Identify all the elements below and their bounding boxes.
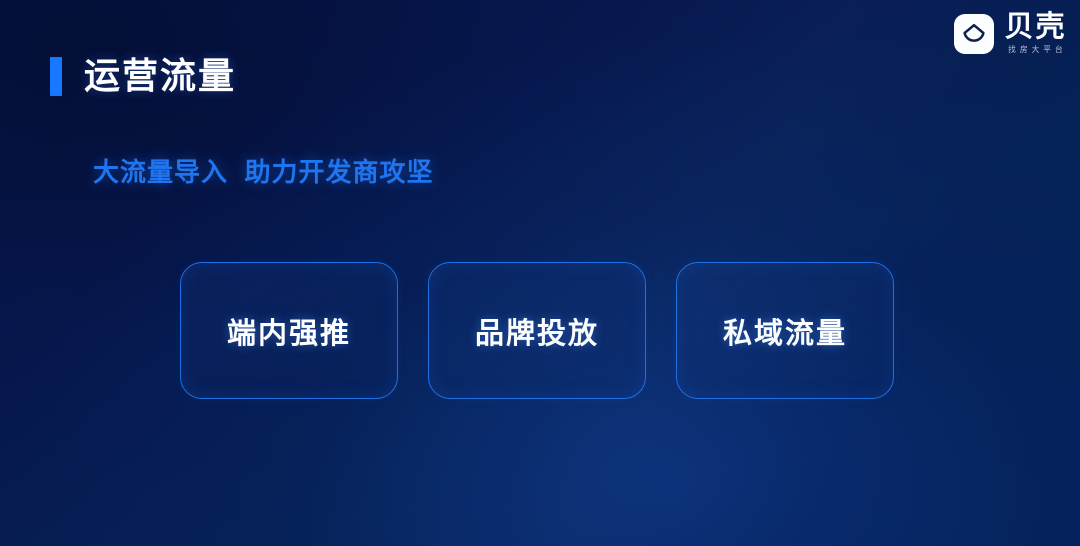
heading-accent-bar	[50, 57, 62, 96]
feature-card-1[interactable]: 端内强推	[180, 262, 398, 399]
feature-card-label: 端内强推	[227, 310, 351, 352]
beike-house-shell-icon	[954, 14, 994, 54]
feature-card-list: 端内强推 品牌投放 私域流量	[180, 262, 894, 399]
feature-card-2[interactable]: 品牌投放	[428, 262, 646, 399]
feature-card-3[interactable]: 私域流量	[676, 262, 894, 399]
page-title: 运营流量	[84, 56, 236, 96]
feature-card-label: 私域流量	[723, 310, 847, 352]
page-heading: 运营流量	[50, 56, 236, 96]
brand-tagline: 找房大平台	[1004, 44, 1066, 56]
brand-logo: 贝壳 找房大平台	[954, 12, 1068, 56]
slide-canvas: 贝壳 找房大平台 运营流量 大流量导入 助力开发商攻坚 端内强推 品牌投放 私域…	[0, 0, 1080, 546]
feature-card-label: 品牌投放	[475, 310, 599, 352]
section-subtitle: 大流量导入 助力开发商攻坚	[93, 152, 433, 189]
brand-wordmark: 贝壳	[1004, 12, 1066, 42]
brand-wordmark-block: 贝壳 找房大平台	[1003, 12, 1068, 56]
